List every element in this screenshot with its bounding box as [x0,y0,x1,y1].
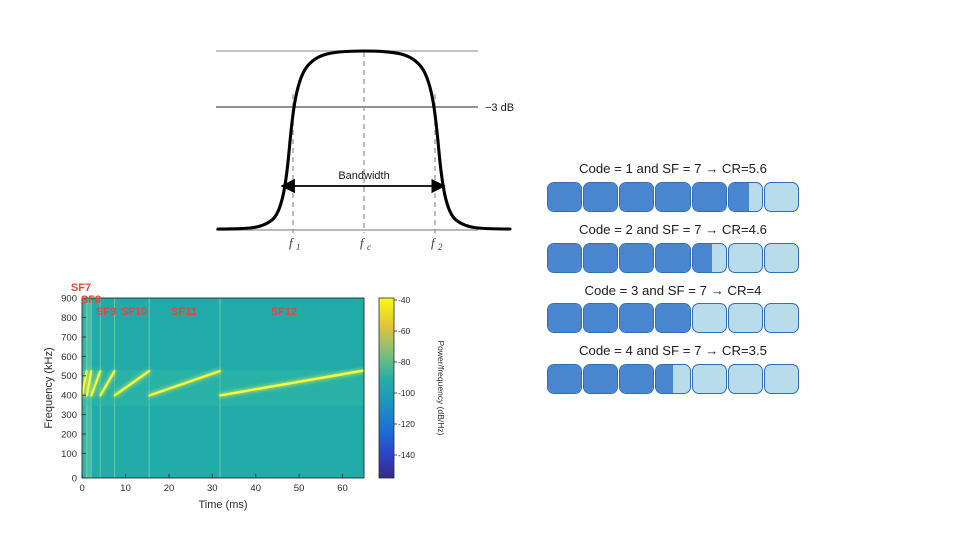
lora-spectrogram-figure: 900 800 700 600 500 400 300 200 100 0 Fr… [34,282,454,518]
coderate-cell [547,182,582,212]
coderate-cell [619,182,654,212]
svg-text:400: 400 [61,391,77,402]
coderate-cell [547,364,582,394]
coderate-cell-fill [620,365,653,393]
coderate-cell-fill [584,183,617,211]
svg-text:-100: -100 [398,388,415,398]
svg-text:-120: -120 [398,419,415,429]
sf7-annotation: SF7 [71,282,91,294]
coderate-cell [692,182,727,212]
coderate-cell [728,303,763,333]
coderate-caption-3: Code = 3 and SF = 7 → CR=4 [528,282,818,304]
coderate-cell-fill [620,244,653,272]
coderate-bar-1 [547,182,799,212]
coderate-cell-fill [548,183,581,211]
coderate-cell [583,303,618,333]
bandwidth-label: Bandwidth [338,170,389,182]
svg-text:40: 40 [250,483,261,494]
sf11-annotation: SF11 [171,306,197,318]
coderate-cell-fill [548,304,581,332]
svg-text:60: 60 [337,483,348,494]
coderate-cell-fill [656,304,689,332]
svg-text:20: 20 [164,483,175,494]
coderate-cell [728,364,763,394]
coderate-cell [655,243,690,273]
coderate-cell [764,364,799,394]
f2-tick-label: f 2 [431,235,443,252]
coderate-cell-fill [620,304,653,332]
coderate-cell-fill [656,365,673,393]
sf10-annotation: SF10 [121,306,147,318]
coderate-cell-fill [656,244,689,272]
coderate-cell-fill [620,183,653,211]
spectrogram-colorbar: -40 -60 -80 -100 -120 -140 [379,295,415,478]
svg-text:c: c [367,242,371,252]
coderate-cell [547,243,582,273]
svg-text:200: 200 [61,429,77,440]
coderate-cell [692,303,727,333]
svg-text:1: 1 [296,242,301,252]
spectrogram-x-axis-title: Time (ms) [198,499,247,511]
coderate-group-2: Code = 2 and SF = 7 → CR=4.6 [528,221,818,273]
svg-text:900: 900 [61,294,77,305]
svg-text:10: 10 [120,483,131,494]
sf8-annotation: SF8 [81,294,101,306]
svg-text:f: f [289,235,295,250]
fc-tick-label: f c [360,235,371,252]
coderate-group-3: Code = 3 and SF = 7 → CR=4 [528,282,818,334]
coderate-cell [655,364,690,394]
coderate-bar-3 [547,303,799,333]
svg-text:100: 100 [61,449,77,460]
svg-text:50: 50 [294,483,305,494]
coderate-cell [655,303,690,333]
coderate-cell [583,243,618,273]
coderate-cell-fill [584,244,617,272]
f1-tick-label: f 1 [289,235,301,252]
coderate-bar-2 [547,243,799,273]
coderate-bar-4 [547,364,799,394]
coderate-cell [728,243,763,273]
coderate-cell-fill [693,244,713,272]
coderate-cell [692,364,727,394]
coderate-cell-fill [584,365,617,393]
coderate-caption-2: Code = 2 and SF = 7 → CR=4.6 [528,221,818,243]
svg-text:-140: -140 [398,450,415,460]
minus-3db-label: −3 dB [485,102,514,114]
coderate-cell [764,303,799,333]
coderate-cell [583,364,618,394]
sf9-annotation: SF9 [96,306,116,318]
coderate-cell [655,182,690,212]
coderate-cell [547,303,582,333]
svg-text:30: 30 [207,483,218,494]
svg-text:0: 0 [80,483,85,494]
colorbar-title: Power/frequency (dB/Hz) [436,341,446,436]
svg-text:800: 800 [61,313,77,324]
svg-text:-60: -60 [398,326,411,336]
svg-text:500: 500 [61,371,77,382]
coderate-caption-1: Code = 1 and SF = 7 → CR=5.6 [528,160,818,182]
spectrogram-y-axis-title: Frequency (kHz) [43,347,55,428]
coderate-cell-fill [548,365,581,393]
coderate-cell [728,182,763,212]
code-rate-panel: Code = 1 and SF = 7 → CR=5.6 Code = 2 an… [528,160,818,480]
coderate-group-1: Code = 1 and SF = 7 → CR=5.6 [528,160,818,212]
coderate-cell [619,243,654,273]
svg-text:-40: -40 [398,295,411,305]
coderate-cell [764,182,799,212]
coderate-cell-fill [656,183,689,211]
svg-text:f: f [360,235,366,250]
coderate-cell [619,364,654,394]
svg-text:0: 0 [72,473,77,484]
coderate-cell [764,243,799,273]
svg-text:2: 2 [438,242,443,252]
filter-response-curve [218,51,510,229]
coderate-cell [619,303,654,333]
coderate-cell [583,182,618,212]
bandpass-filter-figure: −3 dB Bandwidth f 1 f c f 2 [196,34,536,264]
coderate-cell-fill [584,304,617,332]
svg-text:700: 700 [61,332,77,343]
svg-text:300: 300 [61,410,77,421]
sf12-annotation: SF12 [271,306,297,318]
coderate-cell-fill [693,183,726,211]
svg-text:600: 600 [61,352,77,363]
coderate-cell-fill [729,183,749,211]
coderate-caption-4: Code = 4 and SF = 7 → CR=3.5 [528,342,818,364]
coderate-group-4: Code = 4 and SF = 7 → CR=3.5 [528,342,818,394]
coderate-cell-fill [548,244,581,272]
svg-text:f: f [431,235,437,250]
svg-text:-80: -80 [398,357,411,367]
coderate-cell [692,243,727,273]
